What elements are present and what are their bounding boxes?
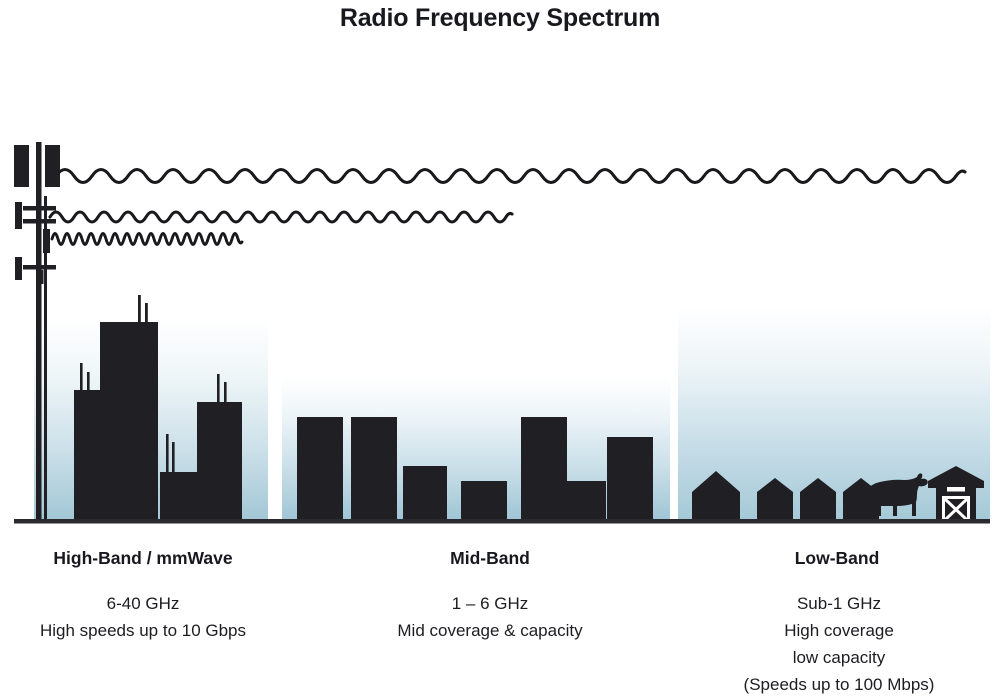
spire xyxy=(166,434,169,474)
band-frequency-low-band: Sub-1 GHz xyxy=(694,590,984,617)
building xyxy=(461,481,507,520)
band-description-high-band: 6-40 GHz High speeds up to 10 Gbps xyxy=(10,590,276,644)
building xyxy=(351,417,397,520)
band-coverage-low-band: High coverage xyxy=(694,617,984,644)
antenna-panel-mid xyxy=(15,202,22,229)
spire xyxy=(217,374,220,404)
building xyxy=(521,417,567,520)
barn-hayloft-window xyxy=(947,487,965,492)
band-speed-low-band: (Speeds up to 100 Mbps) xyxy=(694,671,984,698)
tower-crossarm-mid xyxy=(23,219,56,224)
antenna-panel-left xyxy=(14,145,29,187)
building xyxy=(607,437,653,520)
spire xyxy=(145,303,148,325)
spire xyxy=(138,295,141,325)
band-speed-mid-band: Mid coverage & capacity xyxy=(350,617,630,644)
page-title: Radio Frequency Spectrum xyxy=(0,4,1000,33)
band-label-mid-band: Mid-Band xyxy=(360,548,620,569)
tower-mast-tip xyxy=(40,270,44,284)
band-label-high-band: High-Band / mmWave xyxy=(20,548,266,569)
building xyxy=(197,402,242,520)
band-speed-high-band: High speeds up to 10 Gbps xyxy=(10,617,276,644)
spire xyxy=(172,442,175,474)
building xyxy=(403,466,447,520)
antenna-panel-lower xyxy=(15,257,22,280)
radio-waves-group xyxy=(50,170,965,245)
band-label-low-band: Low-Band xyxy=(712,548,962,569)
ground-line xyxy=(14,519,990,524)
infographic-canvas: Radio Frequency Spectrum xyxy=(0,0,1000,700)
band-frequency-mid-band: 1 – 6 GHz xyxy=(350,590,630,617)
tower-crossarm-upper xyxy=(23,206,56,211)
band-capacity-low-band: low capacity xyxy=(694,644,984,671)
building xyxy=(297,417,343,520)
spire xyxy=(80,363,83,393)
wave-mid-band xyxy=(50,212,512,222)
tower-mast xyxy=(36,142,42,522)
tower-crossarm-lower xyxy=(23,265,56,270)
building xyxy=(567,481,606,520)
spire xyxy=(224,382,227,404)
antenna-panel-right xyxy=(45,145,60,187)
antenna-panel-small xyxy=(43,229,50,253)
building xyxy=(100,322,158,520)
wave-low-band xyxy=(56,170,965,183)
wave-high-band xyxy=(52,234,242,245)
band-description-low-band: Sub-1 GHz High coverage low capacity (Sp… xyxy=(694,590,984,698)
band-frequency-high-band: 6-40 GHz xyxy=(10,590,276,617)
band-description-mid-band: 1 – 6 GHz Mid coverage & capacity xyxy=(350,590,630,644)
